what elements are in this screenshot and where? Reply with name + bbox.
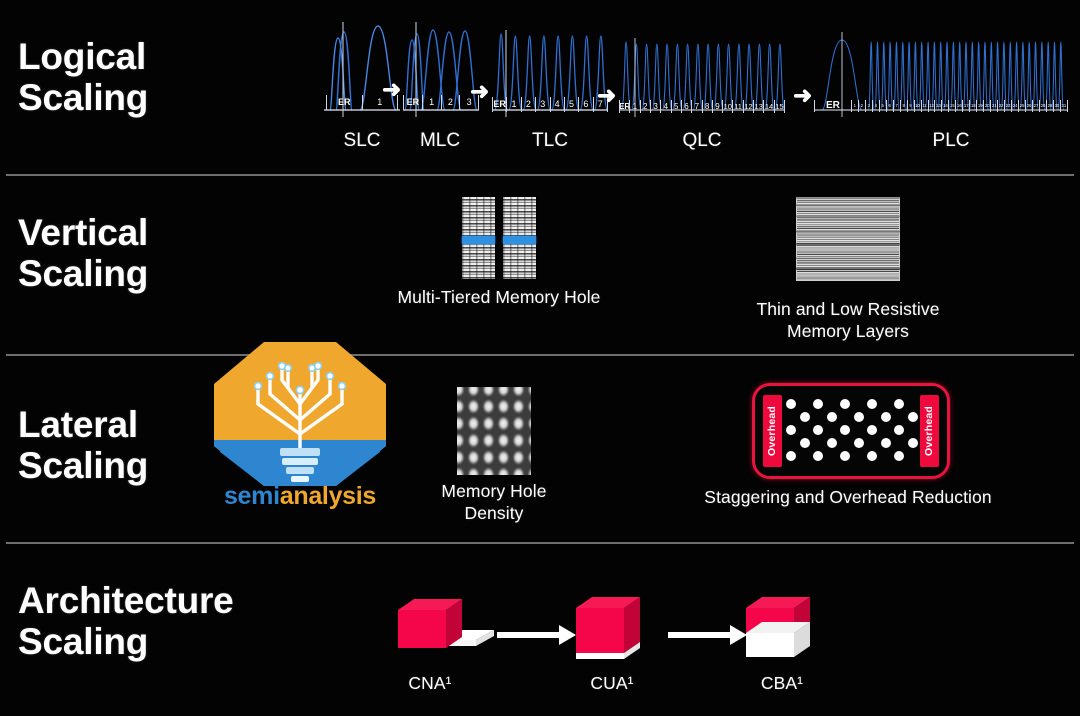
vt-level-cell: 4 <box>872 100 879 112</box>
vt-level-cell: 30 <box>1053 100 1060 112</box>
vt-distribution-slc: ER 1 <box>322 18 402 118</box>
vt-level-cell: 9 <box>907 100 914 112</box>
vt-distribution-plc: ER12345678910111213141516171819202122232… <box>812 30 1070 118</box>
overhead-bar-right: Overhead <box>920 395 939 467</box>
vt-level-cell: 2 <box>858 100 865 112</box>
cua-icon <box>572 588 672 674</box>
logo-text-semi: semi <box>224 482 280 510</box>
hole-dot <box>881 412 891 422</box>
vt-level-cell: 4 <box>660 100 670 113</box>
semianalysis-logo: semianalysis <box>210 340 390 515</box>
row-vertical-scaling: Vertical Scaling Multi-Tiered Memory Hol… <box>0 176 1080 355</box>
vt-level-cell: 15 <box>774 100 785 113</box>
hole-dot <box>840 425 850 435</box>
multi-tiered-memory-hole-image <box>460 197 538 279</box>
hole-dot <box>840 451 850 461</box>
vt-level-cell: 6 <box>578 97 592 112</box>
overhead-bar-left: Overhead <box>763 395 782 467</box>
hole-dot <box>827 412 837 422</box>
vt-level-cell: ER <box>619 100 629 113</box>
hole-dot <box>908 438 918 448</box>
vt-level-cell: 15 <box>948 100 955 112</box>
vt-level-cell: 26 <box>1025 100 1032 112</box>
arch-label-cua: CUA¹ <box>562 672 662 694</box>
caption-staggering-overhead: Staggering and Overhead Reduction <box>673 486 1023 508</box>
vt-level-cell: 2 <box>640 100 650 113</box>
hole-dot <box>813 451 823 461</box>
layer-bands <box>796 197 900 281</box>
memory-hole-texture <box>503 197 536 279</box>
arrow-slc-to-mlc: ➜ <box>382 78 401 101</box>
hole-dot <box>813 425 823 435</box>
hole-dot <box>867 399 877 409</box>
hole-dot <box>894 399 904 409</box>
vt-level-cell: 5 <box>671 100 681 113</box>
vt-level-cell: ER <box>326 95 362 110</box>
vt-level-cell: 1 <box>851 100 858 112</box>
row-logical-scaling: Logical Scaling ER 1 SLC <box>0 0 1080 175</box>
vt-level-cell: 5 <box>564 97 578 112</box>
caption-thin-low-resistive-layers: Thin and Low Resistive Memory Layers <box>723 298 973 343</box>
arrow-mlc-to-tlc: ➜ <box>470 80 489 103</box>
hole-dot <box>908 412 918 422</box>
vt-distribution-mlc: ER 1 2 3 <box>401 18 481 118</box>
vt-level-cell: 23 <box>1004 100 1011 112</box>
vt-level-cell: 13 <box>934 100 941 112</box>
memory-hole-strip-right <box>503 197 536 279</box>
row-title-lateral: Lateral Scaling <box>18 404 148 487</box>
hole-dot <box>786 399 796 409</box>
arrow-tlc-to-qlc: ➜ <box>597 84 616 107</box>
caption-multi-tiered-memory-hole: Multi-Tiered Memory Hole <box>374 286 624 308</box>
vt-level-cell: 21 <box>990 100 997 112</box>
semianalysis-mark-icon <box>210 340 390 490</box>
memory-hole-strip-left <box>462 197 495 279</box>
hole-dot <box>800 412 810 422</box>
vt-level-cell: 11 <box>732 100 742 113</box>
hole-dot <box>840 399 850 409</box>
vt-levels-plc: ER12345678910111213141516171819202122232… <box>814 100 1068 112</box>
arch-diagram-cna: CNA¹ <box>390 588 500 674</box>
vt-levels-qlc: ER 1 2 3 4 5 6 7 8 9 10 11 12 13 14 15 <box>619 100 785 113</box>
arrow-shaft <box>497 632 561 638</box>
vt-level-cell: 31 <box>1060 100 1068 112</box>
overhead-label: Overhead <box>767 406 779 456</box>
vt-level-cell: 12 <box>743 100 753 113</box>
vt-level-cell: 16 <box>955 100 962 112</box>
arrow-qlc-to-plc: ➜ <box>793 84 812 107</box>
row-lateral-scaling: Lateral Scaling <box>0 356 1080 543</box>
vt-label-tlc: TLC <box>510 130 590 152</box>
hole-dot <box>894 451 904 461</box>
vt-level-cell: ER <box>814 100 851 112</box>
vt-level-cell: 1 <box>506 97 520 112</box>
vt-level-cell: 19 <box>976 100 983 112</box>
vt-level-cell: 10 <box>914 100 921 112</box>
cna-icon <box>390 588 500 674</box>
vt-level-cell: 4 <box>550 97 564 112</box>
vt-level-cell: ER <box>403 95 422 110</box>
hole-dot <box>800 438 810 448</box>
memory-hole-pattern <box>457 387 531 475</box>
vt-level-cell: 3 <box>535 97 549 112</box>
vt-level-cell: 6 <box>681 100 691 113</box>
vt-level-cell: 3 <box>650 100 660 113</box>
arch-diagram-cba: CBA¹ <box>742 588 842 674</box>
vt-level-cell: 18 <box>969 100 976 112</box>
overhead-label: Overhead <box>924 406 936 456</box>
vt-level-cell: ER <box>492 97 506 112</box>
caption-memory-hole-density: Memory Hole Density <box>369 480 619 525</box>
hole-dot <box>786 425 796 435</box>
vt-level-cell: 28 <box>1039 100 1046 112</box>
row-architecture-scaling: Architecture Scaling CNA¹ <box>0 544 1080 716</box>
vt-level-cell: 2 <box>521 97 535 112</box>
arch-label-cba: CBA¹ <box>732 672 832 694</box>
logo-text-analysis: analysis <box>280 482 376 510</box>
semianalysis-wordmark: semianalysis <box>210 482 390 511</box>
vt-level-cell: 7 <box>893 100 900 112</box>
arrow-shaft <box>668 632 732 638</box>
hole-dot <box>894 425 904 435</box>
row-title-vertical: Vertical Scaling <box>18 212 148 295</box>
vt-level-cell: 14 <box>941 100 948 112</box>
vt-level-cell: 25 <box>1018 100 1025 112</box>
vt-level-cell: 9 <box>712 100 722 113</box>
hole-dot <box>867 425 877 435</box>
vt-level-cell: 8 <box>702 100 712 113</box>
hole-dot <box>813 399 823 409</box>
row-title-architecture: Architecture Scaling <box>18 580 234 663</box>
vt-levels-mlc: ER 1 2 3 <box>403 95 479 110</box>
vt-level-cell: 5 <box>879 100 886 112</box>
row-title-logical: Logical Scaling <box>18 36 148 119</box>
vt-distribution-tlc: ER 1 2 3 4 5 6 7 <box>490 28 610 118</box>
hole-dot <box>854 412 864 422</box>
vt-level-cell: 13 <box>753 100 763 113</box>
hole-dot <box>867 451 877 461</box>
memory-hole-texture <box>462 197 495 279</box>
vt-level-cell: 29 <box>1046 100 1053 112</box>
vt-level-cell: 1 <box>629 100 639 113</box>
staggering-overhead-diagram: Overhead Overhead <box>752 383 950 479</box>
vt-level-cell: 12 <box>928 100 935 112</box>
vt-level-cell: 22 <box>997 100 1004 112</box>
hole-dot <box>854 438 864 448</box>
vt-level-cell: 11 <box>921 100 928 112</box>
vt-levels-tlc: ER 1 2 3 4 5 6 7 <box>492 97 608 112</box>
slide-root: Logical Scaling ER 1 SLC <box>0 0 1080 716</box>
cba-icon <box>742 588 842 674</box>
vt-level-cell: 1 <box>422 95 441 110</box>
arch-diagram-cua: CUA¹ <box>572 588 672 674</box>
memory-hole-density-image <box>457 387 531 475</box>
arch-label-cna: CNA¹ <box>375 672 485 694</box>
vt-level-cell: 6 <box>886 100 893 112</box>
vt-distribution-qlc: ER 1 2 3 4 5 6 7 8 9 10 11 12 13 14 15 <box>617 36 787 118</box>
vt-level-cell: 20 <box>983 100 990 112</box>
vt-level-cell: 3 <box>865 100 872 112</box>
vt-level-cell: 10 <box>722 100 732 113</box>
vt-level-cell: 14 <box>763 100 773 113</box>
hole-dot <box>786 451 796 461</box>
vt-level-cell: 8 <box>900 100 907 112</box>
hole-dot <box>881 438 891 448</box>
vt-label-mlc: MLC <box>400 130 480 152</box>
vt-level-cell: 27 <box>1032 100 1039 112</box>
thin-low-resistive-layers-image <box>796 197 900 281</box>
vt-level-cell: 24 <box>1011 100 1018 112</box>
vt-level-cell: 2 <box>441 95 460 110</box>
vt-level-cell: 17 <box>962 100 969 112</box>
hole-dot <box>827 438 837 448</box>
vt-level-cell: 7 <box>691 100 701 113</box>
vt-label-plc: PLC <box>911 130 991 152</box>
vt-label-qlc: QLC <box>662 130 742 152</box>
vt-label-slc: SLC <box>322 130 402 152</box>
